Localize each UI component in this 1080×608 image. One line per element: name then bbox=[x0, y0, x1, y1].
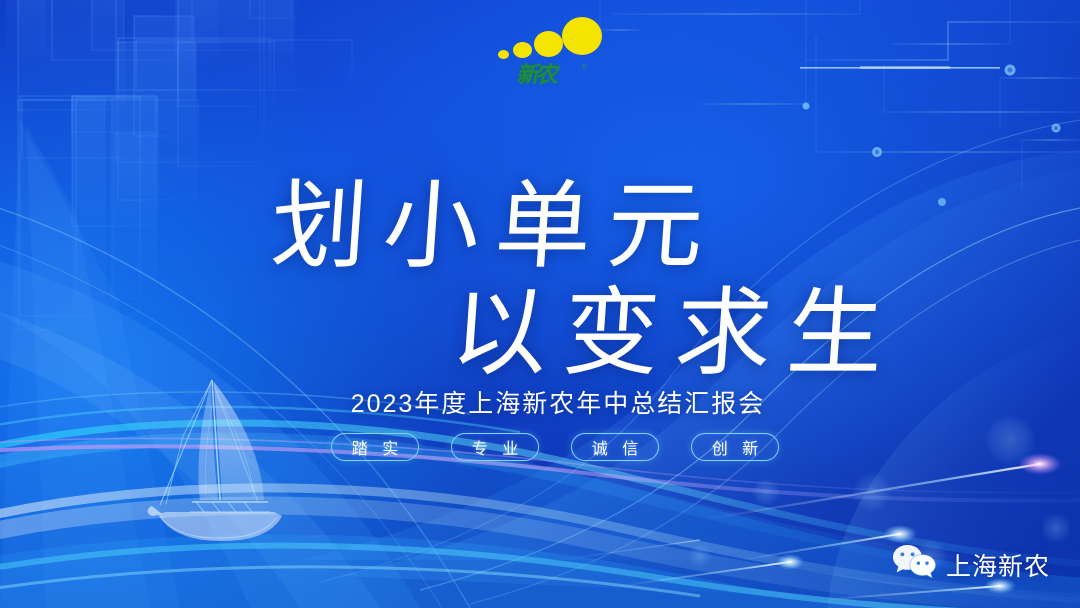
value-tag-list: 踏 实 专 业 诚 信 创 新 bbox=[0, 433, 1080, 461]
poster-canvas: 新农 ® 划小单元 以变求生 2023年度上海新农年中总结汇报会 踏 实 专 业… bbox=[0, 0, 1080, 608]
wechat-icon bbox=[892, 543, 938, 586]
logo-trademark-symbol: ® bbox=[582, 64, 587, 71]
logo-dot-3 bbox=[534, 31, 563, 57]
value-tag-1: 踏 实 bbox=[331, 433, 419, 461]
shanghai-xinnong-logo: 新农 ® bbox=[496, 14, 604, 94]
value-tag-4: 创 新 bbox=[691, 433, 779, 461]
wechat-account-badge: 上海新农 bbox=[892, 543, 1050, 586]
event-subtitle: 2023年度上海新农年中总结汇报会 bbox=[0, 384, 1080, 420]
value-tag-2: 专 业 bbox=[451, 433, 539, 461]
logo-dot-4 bbox=[562, 17, 602, 55]
value-tag-3: 诚 信 bbox=[571, 433, 659, 461]
logo-wordmark: 新农 bbox=[515, 64, 582, 88]
wechat-account-name: 上海新农 bbox=[946, 547, 1050, 583]
headline-line-2: 以变求生 bbox=[447, 255, 905, 394]
event-subtitle-text: 2023年度上海新农年中总结汇报会 bbox=[315, 390, 766, 418]
circuit-node-dots bbox=[803, 65, 1061, 207]
logo-dot-1 bbox=[498, 50, 509, 59]
logo-dot-2 bbox=[513, 42, 532, 58]
circuit-node-dots-inner bbox=[875, 68, 1058, 155]
